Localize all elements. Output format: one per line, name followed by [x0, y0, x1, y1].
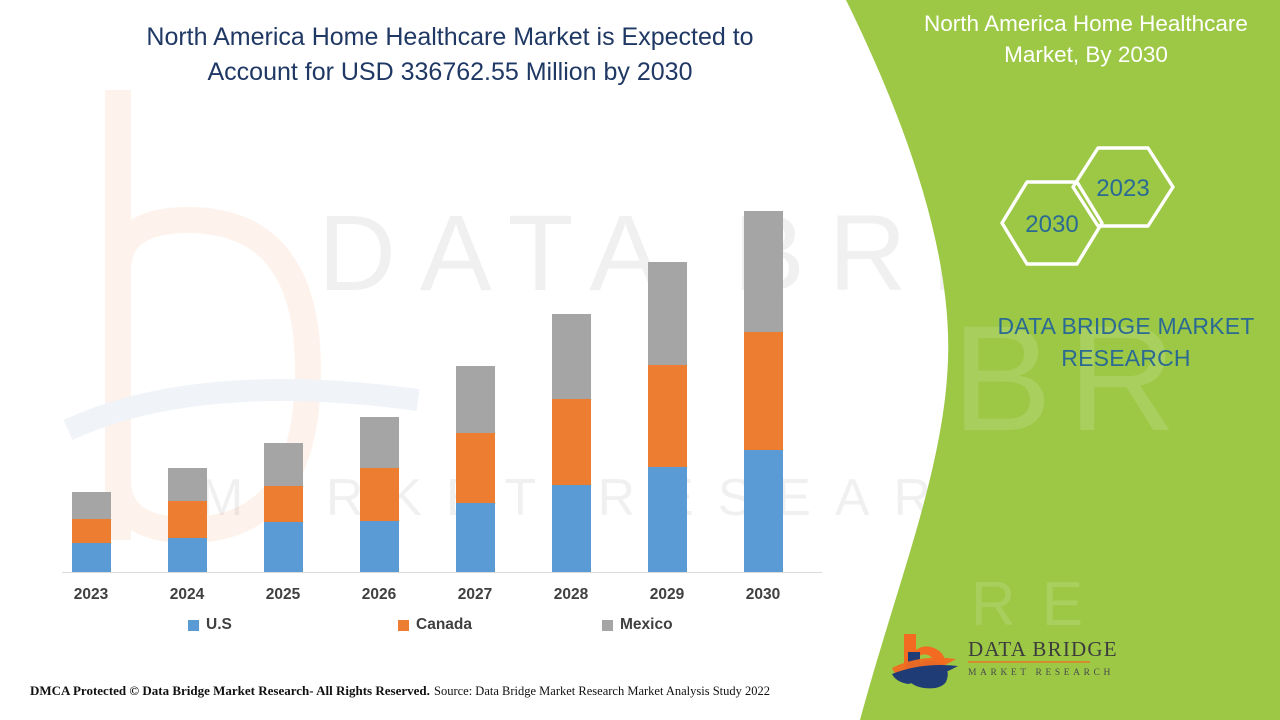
logo-primary-text: DATA BRIDGE [968, 637, 1118, 661]
logo-secondary-text: MARKET RESEARCH [968, 668, 1114, 678]
panel-title: North America Home Healthcare Market, By… [900, 8, 1272, 70]
hexagon-2023-label: 2023 [1096, 175, 1149, 202]
brand-name: DATA BRIDGE MARKET RESEARCH [946, 310, 1280, 374]
hexagon-2030-label: 2030 [1025, 211, 1078, 238]
data-bridge-logo: DATA BRIDGE MARKET RESEARCH [890, 628, 1120, 690]
infographic-canvas: DATA BRIDGE MARKET RESEARCH North Americ… [0, 0, 1280, 720]
hexagon-group: 2023 2030 [980, 140, 1190, 300]
